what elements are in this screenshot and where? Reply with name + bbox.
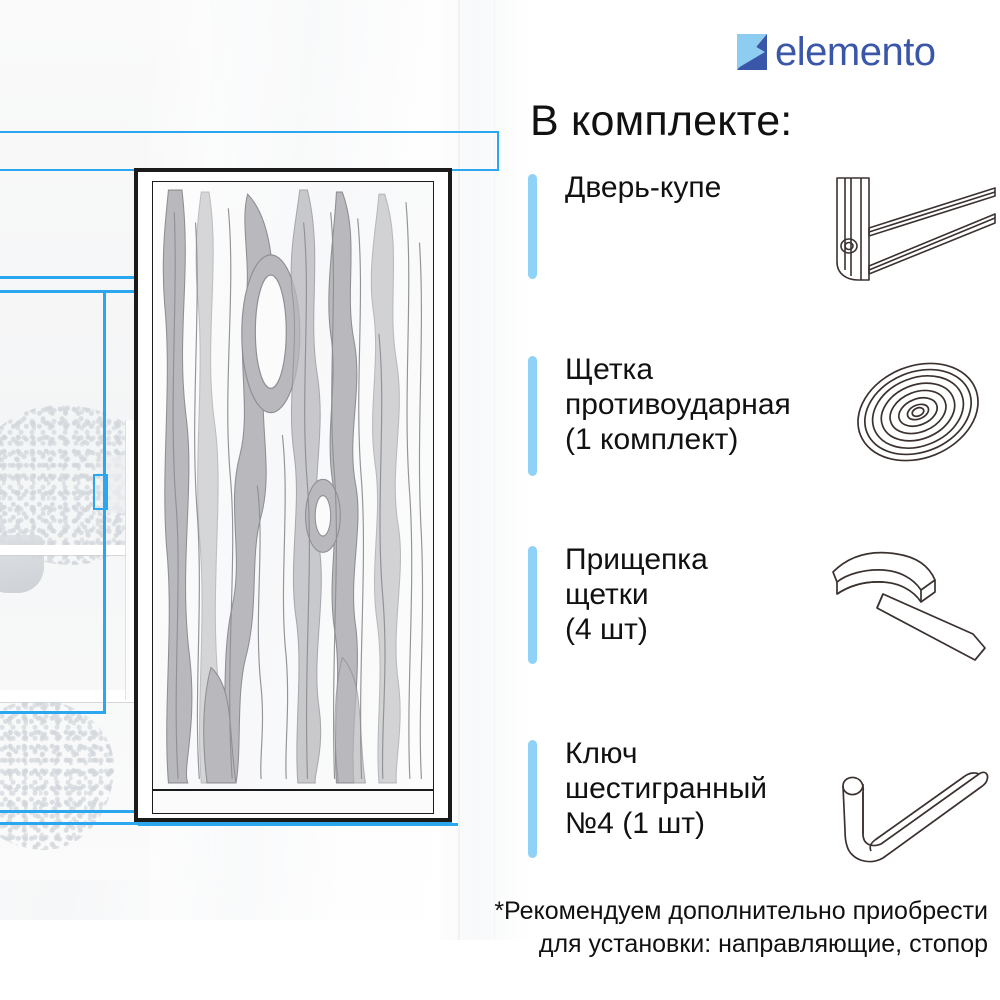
brush-clip-icon — [825, 538, 1000, 673]
accent-bar — [528, 740, 537, 858]
schematic-floor-line-3 — [138, 823, 458, 826]
footnote: *Рекомендуем дополнительно приобрести дл… — [428, 895, 988, 960]
list-item-label: Прищепка щетки (4 шт) — [565, 542, 840, 647]
page-title: В комплекте: — [530, 97, 792, 146]
accent-bar — [528, 356, 537, 476]
door-panel — [152, 181, 434, 790]
list-item-label: Ключ шестигранный №4 (1 шт) — [565, 736, 840, 841]
schematic-door-handle — [93, 474, 108, 510]
list-item-door: Дверь-купе — [528, 170, 998, 288]
accent-bar — [528, 174, 537, 279]
elemento-triangle-mark-icon — [735, 32, 769, 72]
hex-key-icon — [829, 742, 1000, 867]
sliding-door-profile-icon — [825, 166, 1000, 286]
poster-canvas: elemento В комплекте: Дверь-купе — [0, 0, 1000, 1000]
sliding-door-illustration — [134, 168, 452, 822]
plant-pot — [0, 535, 44, 593]
list-item-label: Щетка противоударная (1 комплект) — [565, 352, 840, 457]
accent-bar — [528, 546, 537, 664]
brand-name: elemento — [775, 32, 936, 72]
list-item-hex-key: Ключ шестигранный №4 (1 шт) — [528, 736, 998, 886]
list-item-clip: Прищепка щетки (4 шт) — [528, 542, 998, 694]
wood-grain-pattern-icon — [153, 182, 433, 789]
list-item-brush: Щетка противоударная (1 комплект) — [528, 352, 998, 508]
brand-logo[interactable]: elemento — [735, 32, 936, 72]
schematic-top-rail — [0, 131, 499, 171]
door-bottom-rail — [152, 790, 434, 814]
schematic-line-lower — [0, 711, 106, 714]
coiled-brush-icon — [828, 342, 1000, 482]
included-items-list: Дверь-купе — [528, 170, 998, 886]
list-item-label: Дверь-купе — [565, 170, 840, 205]
